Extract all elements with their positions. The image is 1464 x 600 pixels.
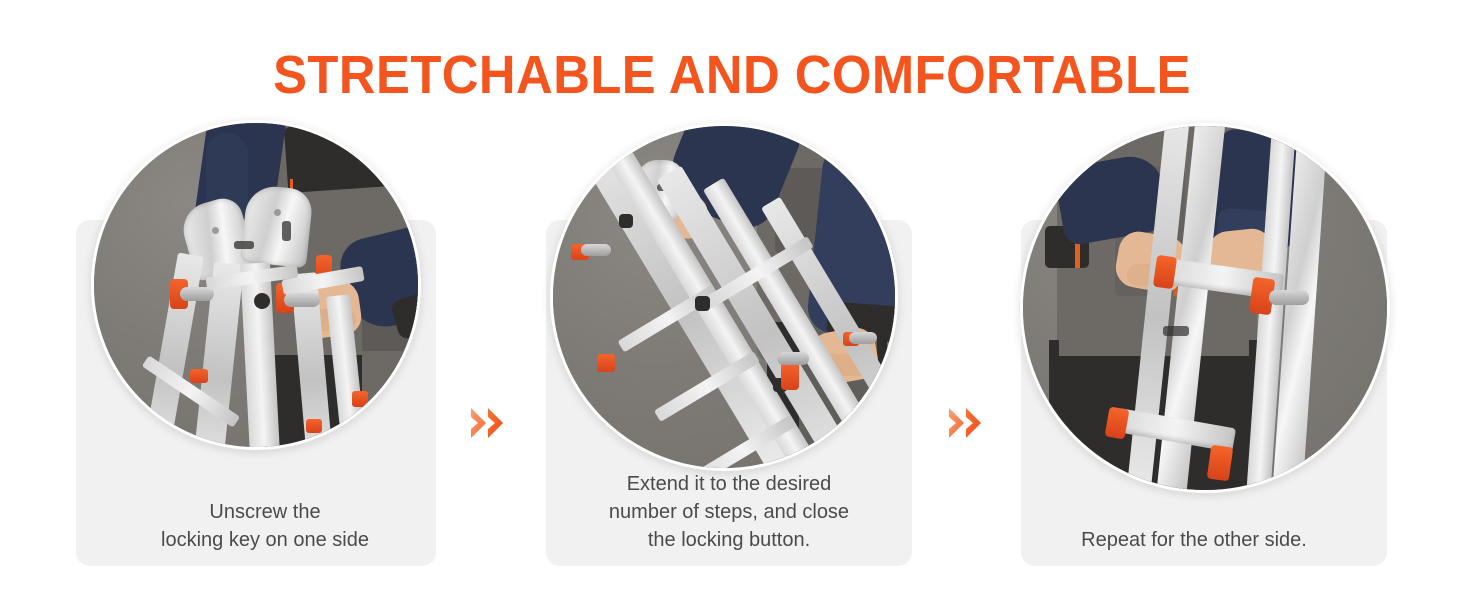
step-separator-arrow-2 [948,406,994,440]
locking-knob-1 [581,244,611,256]
locking-knob-3 [777,352,809,365]
caption-line: Extend it to the desired [538,470,920,498]
step-caption-2: Extend it to the desired number of steps… [538,470,920,554]
locking-knob-2 [284,293,320,307]
rail-hole-2 [695,296,710,311]
lock-knob-upper [1269,290,1309,305]
step-card-2: Extend it to the desired number of steps… [538,110,920,580]
hinge-bolt-2 [274,209,281,216]
locking-knob-4 [849,332,877,344]
page-title: STRETCHABLE AND COMFORTABLE [44,44,1420,106]
caption-line: the locking button. [538,526,920,554]
steps-row: Unscrew the locking key on one side [0,110,1464,580]
rail-slot [1163,326,1189,336]
locking-button-4 [1207,445,1234,482]
hinge-slot-1 [234,241,254,249]
double-chevron-right-icon [965,406,986,440]
locking-pin-3 [781,362,799,390]
locking-pin-2 [597,354,615,372]
double-chevron-right-icon [487,406,508,440]
step-photo-2 [550,123,898,471]
step-photo-1 [91,120,421,450]
hinge-plate-right [240,184,314,268]
rail-hole [254,293,270,309]
step-card-3: Repeat for the other side. [1003,110,1385,580]
locking-pin-4 [190,369,208,383]
caption-line: Unscrew the [74,498,456,526]
caption-line: Repeat for the other side. [1003,526,1385,554]
step-caption-1: Unscrew the locking key on one side [74,498,456,554]
infographic-root: STRETCHABLE AND COMFORTABLE [0,0,1464,600]
step-separator-arrow-1 [470,406,516,440]
overalls-chest-panel [284,123,408,193]
step-card-1: Unscrew the locking key on one side [74,110,456,580]
trousers-side [362,351,418,447]
rail-hole-1 [619,214,633,228]
caption-line: number of steps, and close [538,498,920,526]
hinge-bolt-1 [212,227,219,234]
caption-line: locking key on one side [74,526,456,554]
step-caption-3: Repeat for the other side. [1003,526,1385,554]
locking-pin-5 [352,391,368,407]
locking-pin-6 [306,419,322,433]
step-photo-3 [1020,123,1390,493]
hinge-slot-2 [282,221,291,241]
